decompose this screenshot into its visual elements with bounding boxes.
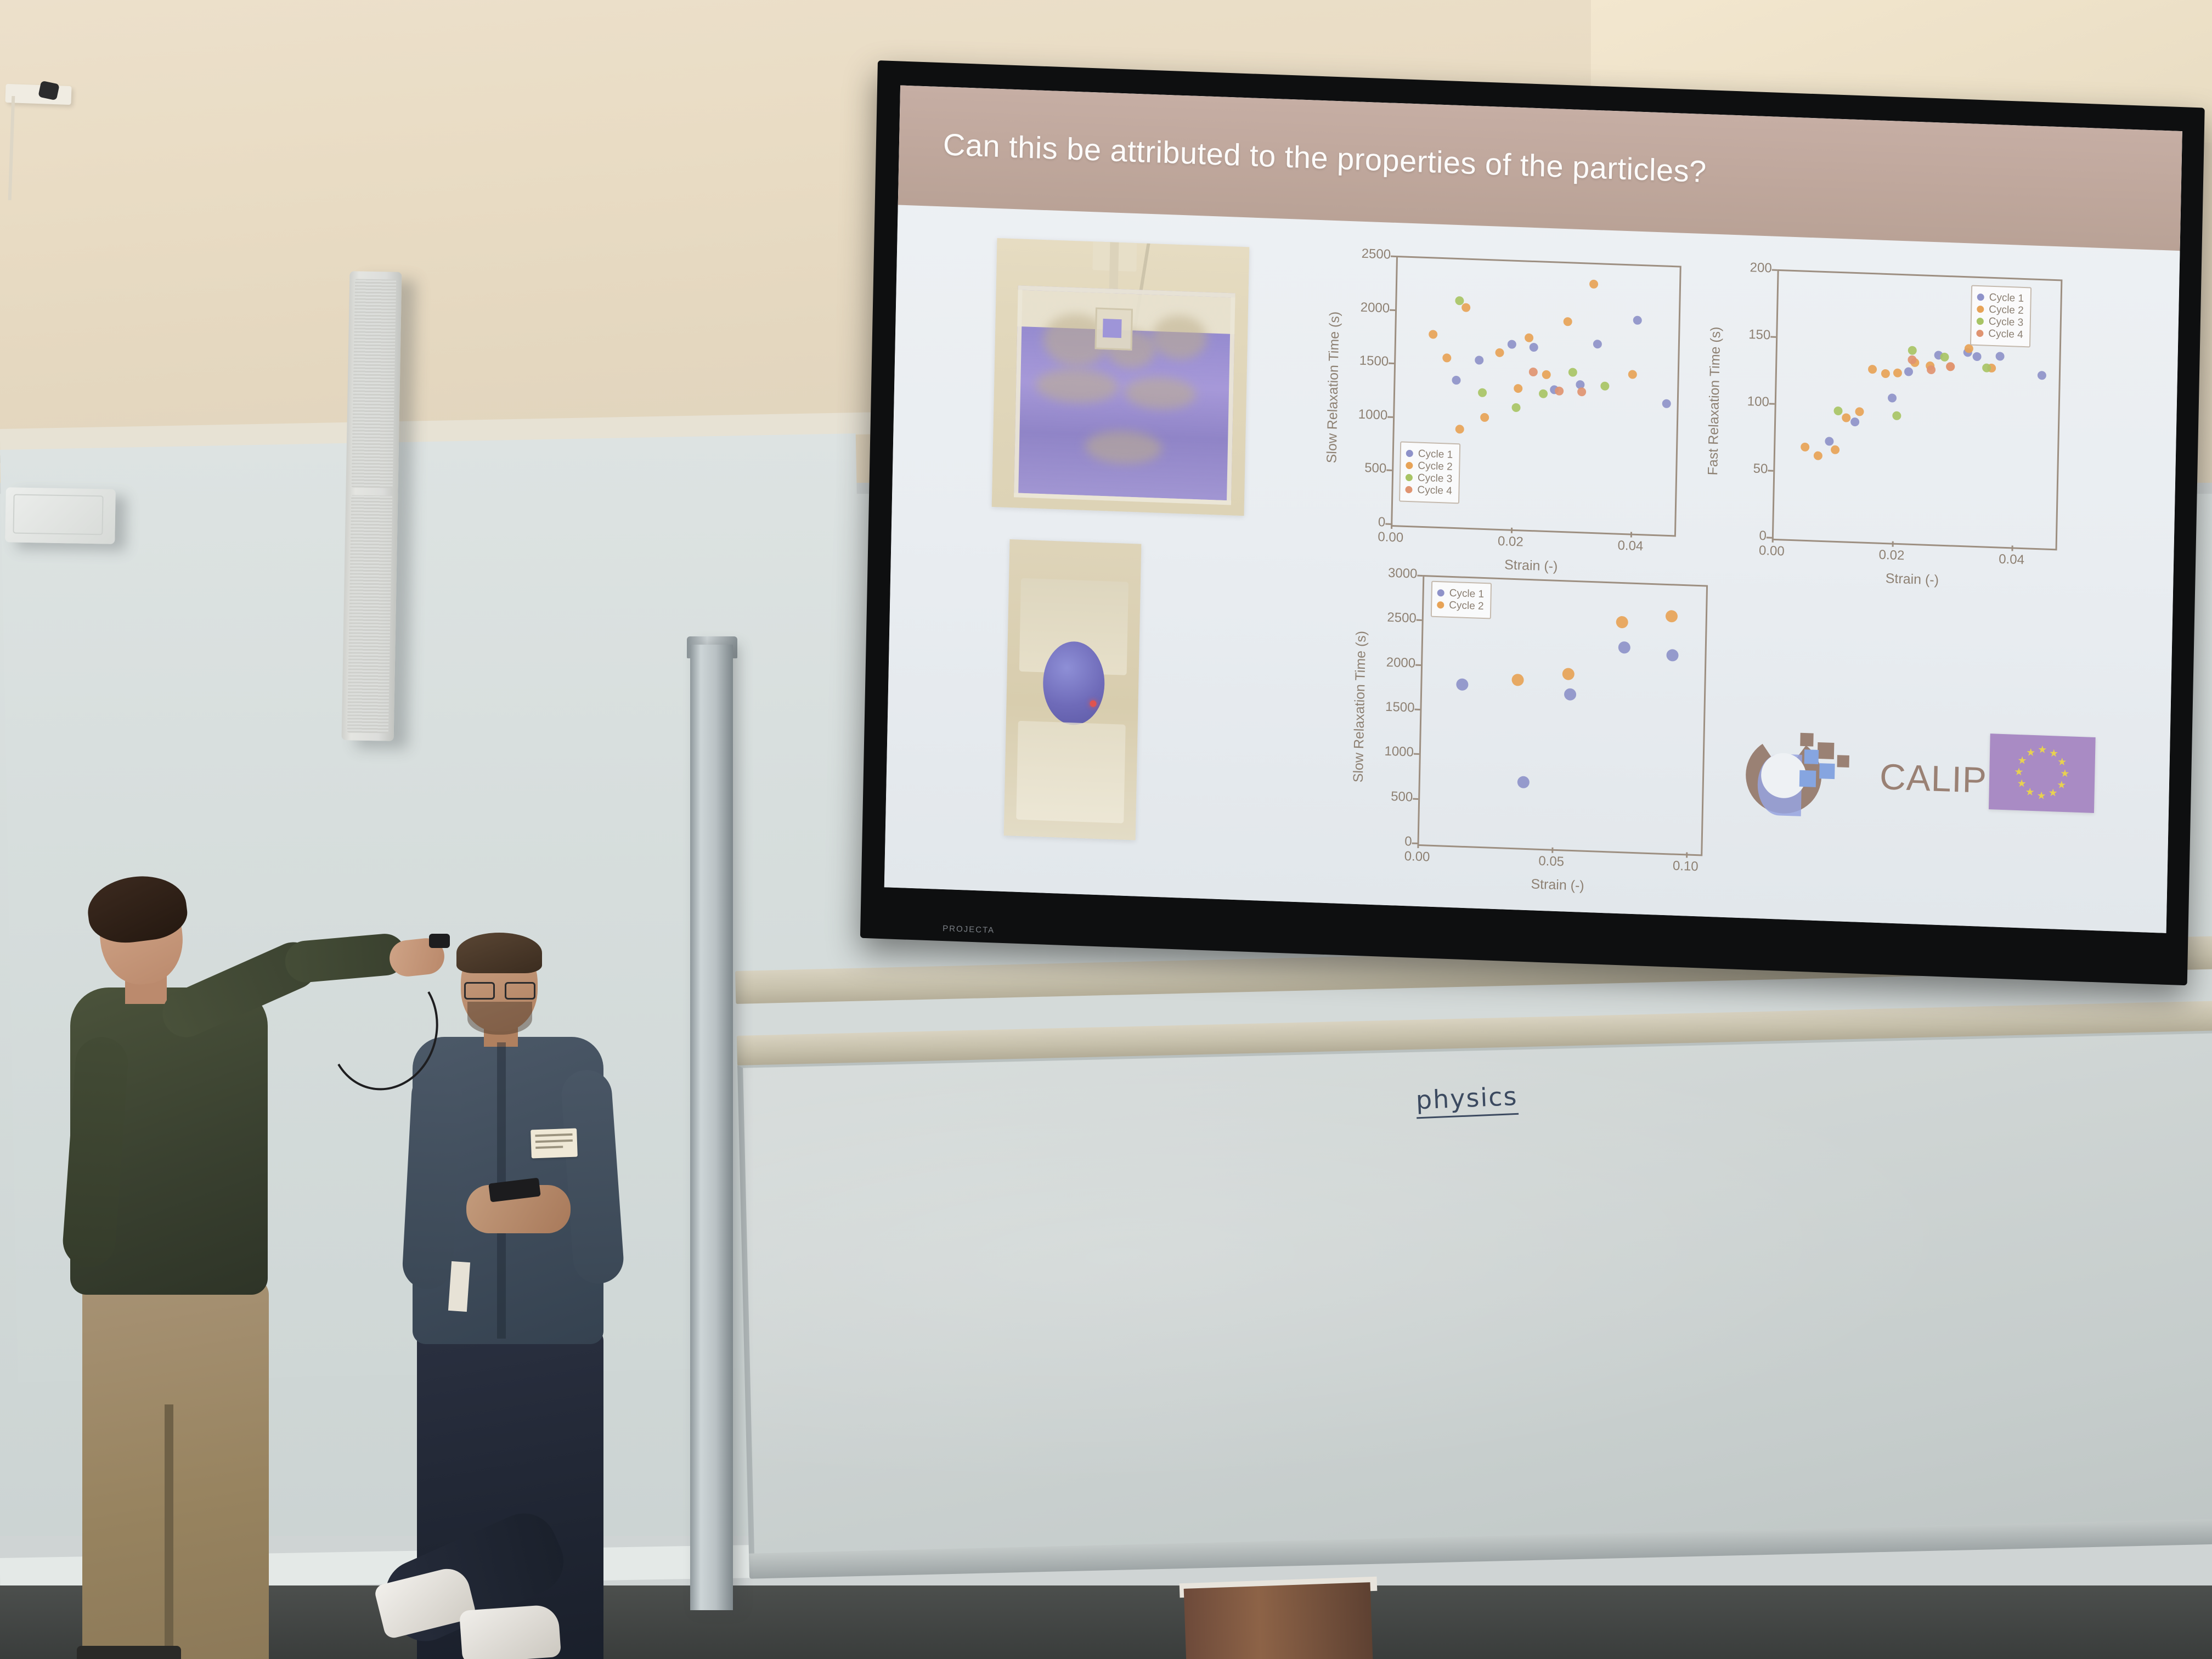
data-point [1662, 399, 1671, 408]
projection-screen-surface: Can this be attributed to the properties… [884, 85, 2182, 933]
support-post [690, 645, 733, 1610]
y-tick-mark [1386, 470, 1392, 471]
legend-item: Cycle 2 [1437, 600, 1484, 612]
legend-item: Cycle 4 [1405, 484, 1452, 496]
data-point [1666, 649, 1678, 662]
y-tick-mark [1387, 416, 1393, 417]
data-point [1452, 375, 1460, 385]
x-tick-mark [1686, 852, 1688, 857]
data-point [1618, 641, 1630, 654]
data-point [1633, 315, 1641, 325]
x-axis-label: Strain (-) [1417, 872, 1699, 898]
legend-label: Cycle 4 [1417, 485, 1452, 496]
legend-label: Cycle 2 [1989, 304, 2024, 316]
caliper-c-inner [1757, 753, 1802, 816]
eu-flag-star-icon: ★ [2038, 744, 2047, 755]
photo1-particle [1152, 314, 1207, 360]
data-point [1833, 406, 1842, 415]
y-axis-label: Fast Relaxation Time (s) [1704, 267, 1725, 535]
presentation-clicker [429, 934, 450, 948]
legend-marker-icon [1977, 294, 1984, 301]
y-tick-mark [1417, 619, 1422, 621]
eu-flag-star-icon: ★ [2026, 747, 2035, 758]
legend-label: Cycle 1 [1989, 292, 2024, 304]
presentation-slide: Can this be attributed to the properties… [884, 85, 2182, 933]
legend-label: Cycle 2 [1418, 461, 1453, 472]
presenter-a-leg-split [165, 1404, 173, 1659]
data-point [1462, 303, 1470, 312]
eyeglasses-icon [464, 982, 535, 996]
data-point [1568, 368, 1577, 377]
x-tick-mark [1892, 541, 1893, 547]
data-point [1892, 411, 1901, 420]
presenter-b-lanyard [448, 1261, 470, 1312]
eu-flag-star-icon: ★ [2060, 769, 2069, 780]
data-point [1868, 365, 1877, 374]
data-point [1616, 616, 1628, 629]
eu-flag-star-icon: ★ [2036, 791, 2046, 802]
x-tick-mark [1551, 848, 1553, 853]
eu-flag-star-icon: ★ [2014, 767, 2023, 778]
legend-label: Cycle 4 [1988, 329, 2023, 340]
data-point [1982, 363, 1991, 373]
chart-slow-relaxation-two-cycles: 0500100015002000250030000.000.050.10Slow… [1334, 557, 1725, 911]
y-tick-mark [1767, 537, 1772, 538]
legend-marker-icon [1406, 474, 1413, 481]
x-tick-label: 0.00 [1384, 848, 1451, 866]
x-tick-label: 0.02 [1859, 546, 1925, 564]
legend-item: Cycle 3 [1406, 472, 1453, 484]
x-tick-mark [1417, 843, 1419, 848]
eu-flag-star-icon: ★ [2057, 757, 2067, 768]
presenter-b-beard [467, 1002, 532, 1035]
data-point [1589, 280, 1598, 289]
caliper-square-icon [1818, 742, 1835, 759]
eu-flag-star-icon: ★ [2048, 788, 2057, 799]
legend-item: Cycle 4 [1976, 328, 2023, 340]
y-tick-mark [1390, 309, 1395, 311]
x-tick-label: 0.00 [1357, 529, 1423, 546]
data-point [1542, 370, 1550, 380]
lectern [1184, 1582, 1373, 1659]
legend-item: Cycle 1 [1437, 588, 1485, 600]
floor [0, 1585, 2212, 1659]
y-tick-mark [1414, 753, 1419, 755]
data-point [1904, 367, 1913, 376]
presenter-a-shoe [77, 1646, 181, 1659]
x-tick-label: 0.04 [1598, 537, 1664, 555]
data-point [1825, 437, 1833, 446]
eu-flag-star-icon: ★ [2025, 787, 2034, 798]
eu-flag-star-icon: ★ [2017, 778, 2026, 789]
ceiling-speaker-column [342, 271, 402, 741]
presenter-b-shoe [459, 1604, 561, 1659]
whiteboard: physics [735, 936, 2212, 1596]
data-point [1831, 445, 1839, 454]
chart-legend: Cycle 1Cycle 2 [1431, 581, 1492, 619]
photo-tank-with-blue-particles [992, 238, 1250, 516]
y-tick-mark [1415, 664, 1421, 665]
data-point [1478, 388, 1487, 397]
data-point [1456, 678, 1468, 691]
x-tick-mark [1772, 537, 1774, 543]
y-tick-mark [1768, 470, 1773, 471]
eu-flag-star-icon: ★ [2057, 780, 2066, 791]
legend-marker-icon [1405, 486, 1412, 493]
y-tick-mark [1389, 363, 1394, 364]
photo1-particle [1085, 430, 1162, 465]
caliper-square-icon [1800, 733, 1813, 747]
data-point [1528, 368, 1537, 377]
whiteboard-writing: physics [1415, 1081, 1519, 1115]
y-tick-mark [1770, 336, 1776, 337]
eu-flag: ★★★★★★★★★★★★ [1989, 733, 2096, 813]
presenter-b-hair [456, 933, 542, 973]
x-tick-label: 0.04 [1978, 551, 2045, 568]
wall-speaker-box [5, 487, 116, 544]
legend-label: Cycle 1 [1418, 449, 1453, 460]
y-tick-mark [1417, 575, 1423, 577]
legend-item: Cycle 2 [1977, 304, 2024, 316]
x-tick-label: 0.02 [1477, 533, 1544, 551]
legend-label: Cycle 2 [1449, 600, 1484, 612]
legend-item: Cycle 2 [1406, 460, 1453, 472]
x-tick-mark [2012, 545, 2013, 551]
legend-marker-icon [1977, 306, 1984, 313]
data-point [1814, 451, 1822, 460]
x-axis-label: Strain (-) [1771, 567, 2053, 592]
photo1-sensor-chip [1103, 319, 1122, 338]
x-tick-label: 0.00 [1739, 543, 1805, 560]
y-tick-mark [1769, 403, 1775, 404]
legend-marker-icon [1976, 330, 1983, 337]
lecture-hall-photo: physics PROJECTA Can this be attributed … [0, 0, 2212, 1659]
whiteboard-writing-text: physics [1415, 1081, 1519, 1119]
y-tick-mark [1412, 843, 1418, 844]
name-badge [531, 1128, 578, 1159]
legend-item: Cycle 3 [1977, 316, 2024, 328]
legend-marker-icon [1437, 589, 1444, 596]
legend-marker-icon [1406, 450, 1413, 457]
screen-brand-label: PROJECTA [943, 924, 995, 935]
caliper-square-icon [1837, 755, 1849, 768]
data-point [1801, 443, 1809, 452]
y-tick-mark [1385, 523, 1391, 525]
x-tick-mark [1391, 523, 1392, 529]
chart-fast-relaxation-multi: 0501001502000.000.020.04Fast Relaxation … [1689, 251, 2079, 605]
y-tick-mark [1414, 709, 1420, 710]
legend-marker-icon [1977, 318, 1984, 325]
legend-label: Cycle 3 [1418, 473, 1453, 484]
photo1-particle [1124, 376, 1196, 410]
y-axis-label: Slow Relaxation Time (s) [1323, 253, 1344, 522]
caliper-square-icon [1819, 763, 1835, 779]
x-tick-mark [1630, 532, 1632, 538]
data-point [1517, 776, 1530, 788]
caliper-square-icon [1804, 749, 1819, 764]
y-tick-mark [1413, 798, 1418, 799]
chart-slow-relaxation-multi: 050010001500200025000.000.020.04Slow Rel… [1307, 238, 1698, 591]
x-tick-label: 0.05 [1518, 853, 1584, 871]
presenter-a-legs [82, 1278, 269, 1659]
y-tick-mark [1772, 269, 1778, 271]
legend-label: Cycle 1 [1449, 588, 1485, 600]
legend-item: Cycle 1 [1977, 292, 2024, 304]
caliper-square-icon [1799, 770, 1816, 787]
chart-legend: Cycle 1Cycle 2Cycle 3Cycle 4 [1399, 441, 1461, 504]
data-point [1529, 343, 1538, 352]
data-point [1995, 352, 2004, 361]
data-point [1525, 333, 1533, 342]
projection-screen-frame: PROJECTA Can this be attributed to the p… [860, 60, 2205, 985]
data-point [1429, 330, 1437, 339]
legend-marker-icon [1406, 462, 1413, 469]
x-tick-mark [1511, 528, 1513, 533]
data-point [2037, 371, 2046, 380]
x-tick-label: 0.10 [1652, 857, 1719, 875]
data-point [1893, 368, 1902, 377]
legend-marker-icon [1437, 601, 1444, 608]
legend-item: Cycle 1 [1406, 448, 1453, 460]
photo-single-particle-compression [1004, 539, 1142, 840]
photo2-lower-plate [1016, 721, 1126, 823]
chart-legend: Cycle 1Cycle 2Cycle 3Cycle 4 [1970, 285, 2032, 348]
photo1-particle [1036, 368, 1119, 404]
legend-label: Cycle 3 [1989, 317, 2024, 328]
y-tick-mark [1391, 256, 1396, 257]
